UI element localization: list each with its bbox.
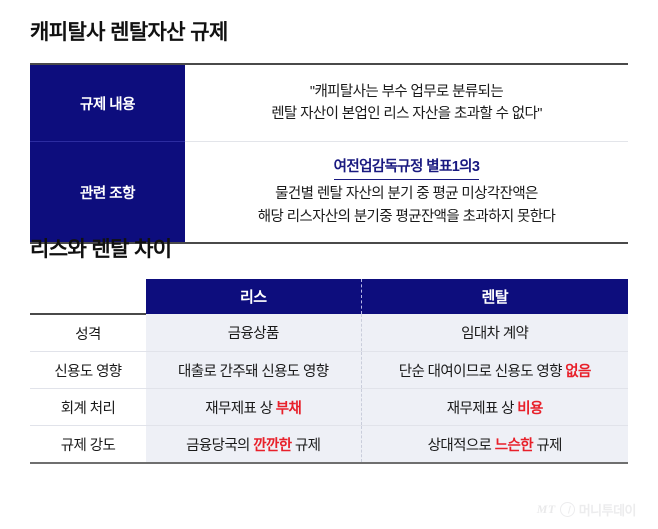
cell-text: 금융당국의 — [186, 438, 253, 454]
cell-text: 대출로 간주돼 신용도 영향 — [178, 364, 328, 380]
infographic-page: 캐피탈사 렌탈자산 규제 규제 내용 "캐피탈사는 부수 업무로 분류되는 렌탈… — [0, 0, 658, 529]
cell-text: 규제 — [291, 438, 320, 454]
regulation-row-label: 규제 내용 — [30, 64, 185, 142]
section-title-comparison: 리스와 렌탈 차이 — [30, 239, 172, 260]
cell-text: 금융상품 — [228, 326, 279, 342]
table-row: 회계 처리재무제표 상 부채재무제표 상 비용 — [30, 389, 628, 426]
comparison-table: 리스 렌탈 성격금융상품임대차 계약신용도 영향대출로 간주돼 신용도 영향단순… — [30, 279, 628, 464]
cell-text: 상대적으로 — [428, 438, 495, 454]
regulation-value-line: "캐피탈사는 부수 업무로 분류되는 — [193, 81, 620, 103]
cell-text: 재무제표 상 — [205, 401, 276, 417]
cell-text: 단순 대여이므로 신용도 영향 — [399, 364, 566, 380]
watermark-circle-icon — [560, 502, 575, 517]
comparison-cell-lease: 대출로 간주돼 신용도 영향 — [146, 352, 361, 389]
comparison-cell-lease: 금융상품 — [146, 314, 361, 352]
table-row: 성격금융상품임대차 계약 — [30, 314, 628, 352]
cell-text: 규제 — [533, 438, 562, 454]
regulation-value-line: 물건별 렌탈 자산의 분기 중 평균 미상각잔액은 — [193, 183, 620, 205]
cell-text: 임대차 계약 — [461, 326, 528, 342]
comparison-cell-rental: 상대적으로 느슨한 규제 — [361, 426, 628, 464]
regulation-value-line: 렌탈 자산이 본업인 리스 자산을 초과할 수 없다" — [193, 103, 620, 125]
cell-highlight-text: 깐깐한 — [253, 438, 291, 454]
comparison-cell-rental: 임대차 계약 — [361, 314, 628, 352]
comparison-header-rental: 렌탈 — [361, 279, 628, 314]
watermark-mt-text: MT — [537, 502, 556, 517]
watermark-logo: MT 머니투데이 — [537, 500, 636, 519]
watermark-brand-text: 머니투데이 — [579, 500, 636, 519]
regulation-row-value: 여전업감독규정 별표1의3 물건별 렌탈 자산의 분기 중 평균 미상각잔액은 … — [185, 142, 628, 244]
regulation-row-label: 관련 조항 — [30, 142, 185, 244]
cell-highlight-text: 없음 — [565, 364, 590, 380]
table-row: 관련 조항 여전업감독규정 별표1의3 물건별 렌탈 자산의 분기 중 평균 미… — [30, 142, 628, 244]
comparison-cell-rental: 단순 대여이므로 신용도 영향 없음 — [361, 352, 628, 389]
comparison-header-blank — [30, 279, 146, 314]
table-row: 규제 강도금융당국의 깐깐한 규제상대적으로 느슨한 규제 — [30, 426, 628, 464]
cell-text: 재무제표 상 — [447, 401, 518, 417]
comparison-cell-lease: 재무제표 상 부채 — [146, 389, 361, 426]
comparison-cell-rental: 재무제표 상 비용 — [361, 389, 628, 426]
regulation-value-line: 해당 리스자산의 분기중 평균잔액을 초과하지 못한다 — [193, 206, 620, 228]
comparison-header-lease: 리스 — [146, 279, 361, 314]
comparison-row-label: 규제 강도 — [30, 426, 146, 464]
table-row: 규제 내용 "캐피탈사는 부수 업무로 분류되는 렌탈 자산이 본업인 리스 자… — [30, 64, 628, 142]
comparison-row-label: 신용도 영향 — [30, 352, 146, 389]
comparison-cell-lease: 금융당국의 깐깐한 규제 — [146, 426, 361, 464]
regulation-row-value: "캐피탈사는 부수 업무로 분류되는 렌탈 자산이 본업인 리스 자산을 초과할… — [185, 64, 628, 142]
comparison-row-label: 성격 — [30, 314, 146, 352]
regulation-table: 규제 내용 "캐피탈사는 부수 업무로 분류되는 렌탈 자산이 본업인 리스 자… — [30, 63, 628, 244]
comparison-header-row: 리스 렌탈 — [30, 279, 628, 314]
section-title-regulation: 캐피탈사 렌탈자산 규제 — [30, 22, 228, 43]
law-reference-link[interactable]: 여전업감독규정 별표1의3 — [334, 156, 480, 180]
cell-highlight-text: 비용 — [517, 401, 542, 417]
comparison-row-label: 회계 처리 — [30, 389, 146, 426]
cell-highlight-text: 부채 — [276, 401, 301, 417]
cell-highlight-text: 느슨한 — [495, 438, 533, 454]
table-row: 신용도 영향대출로 간주돼 신용도 영향단순 대여이므로 신용도 영향 없음 — [30, 352, 628, 389]
